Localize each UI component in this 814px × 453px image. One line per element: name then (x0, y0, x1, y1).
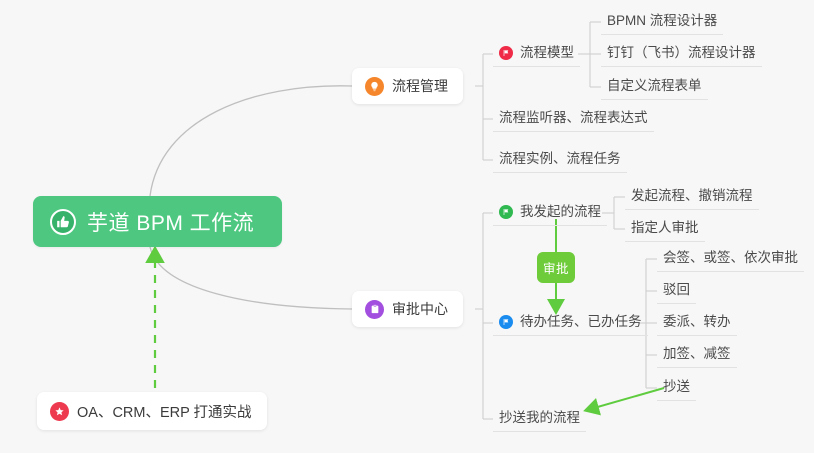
flag-green-icon (499, 205, 513, 219)
leaf-custom-process-form[interactable]: 自定义流程表单 (601, 77, 708, 100)
leaf-label: 指定人审批 (631, 219, 699, 236)
leaf-assignee-approval[interactable]: 指定人审批 (625, 219, 705, 242)
mindmap-canvas: 芋道 BPM 工作流 流程管理 审批中心 OA、CRM、ERP 打通实战 (0, 0, 814, 453)
leaf-countersign-or-sequential[interactable]: 会签、或签、依次审批 (657, 249, 804, 272)
leaf-dingtalk-feishu-designer[interactable]: 钉钉（飞书）流程设计器 (601, 44, 762, 67)
leaf-my-started-processes[interactable]: 我发起的流程 (493, 203, 607, 226)
root-label: 芋道 BPM 工作流 (87, 207, 254, 237)
branch-label: 审批中心 (392, 299, 448, 319)
leaf-label: 加签、减签 (663, 345, 731, 362)
approval-badge: 审批 (537, 252, 575, 283)
leaf-process-model[interactable]: 流程模型 (493, 44, 580, 67)
leaf-todo-done-tasks[interactable]: 待办任务、已办任务 (493, 313, 648, 336)
thumbs-up-icon (50, 209, 76, 235)
note-node-oa-crm-erp[interactable]: OA、CRM、ERP 打通实战 (37, 392, 267, 430)
root-node[interactable]: 芋道 BPM 工作流 (33, 196, 282, 247)
leaf-label: 我发起的流程 (520, 203, 601, 220)
leaf-reject[interactable]: 驳回 (657, 281, 696, 304)
leaf-listener-expression[interactable]: 流程监听器、流程表达式 (493, 109, 654, 132)
leaf-label: 自定义流程表单 (607, 77, 702, 94)
leaf-label: 流程模型 (520, 44, 574, 61)
leaf-instance-task[interactable]: 流程实例、流程任务 (493, 150, 627, 173)
leaf-bpmn-designer[interactable]: BPMN 流程设计器 (601, 12, 723, 35)
flag-red-icon (499, 46, 513, 60)
branch-label: 流程管理 (392, 76, 448, 96)
leaf-label: 钉钉（飞书）流程设计器 (607, 44, 756, 61)
leaf-label: 抄送我的流程 (499, 409, 580, 426)
branch-node-approval-center[interactable]: 审批中心 (352, 291, 463, 327)
leaf-label: 发起流程、撤销流程 (631, 187, 753, 204)
leaf-cc[interactable]: 抄送 (657, 378, 696, 401)
leaf-label: 委派、转办 (663, 313, 731, 330)
leaf-add-remove-sign[interactable]: 加签、减签 (657, 345, 737, 368)
leaf-label: 流程实例、流程任务 (499, 150, 621, 167)
leaf-label: 流程监听器、流程表达式 (499, 109, 648, 126)
leaf-label: 会签、或签、依次审批 (663, 249, 798, 266)
leaf-label: BPMN 流程设计器 (607, 12, 717, 29)
leaf-label: 驳回 (663, 281, 690, 298)
leaf-cc-to-me-processes[interactable]: 抄送我的流程 (493, 409, 586, 432)
note-label: OA、CRM、ERP 打通实战 (77, 401, 252, 422)
leaf-delegate-transfer[interactable]: 委派、转办 (657, 313, 737, 336)
approval-badge-label: 审批 (543, 258, 569, 277)
leaf-start-cancel-process[interactable]: 发起流程、撤销流程 (625, 187, 759, 210)
branch-node-process-management[interactable]: 流程管理 (352, 68, 463, 104)
flag-blue-icon (499, 315, 513, 329)
clipboard-icon (365, 300, 384, 319)
leaf-label: 待办任务、已办任务 (520, 313, 642, 330)
leaf-label: 抄送 (663, 378, 690, 395)
star-icon (50, 402, 69, 421)
lightbulb-icon (365, 77, 384, 96)
